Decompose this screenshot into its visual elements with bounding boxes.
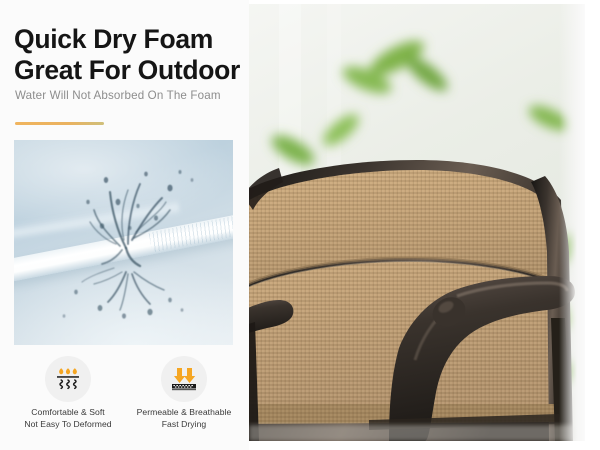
canvas-edge-bottom [249,441,600,450]
page-title: Quick Dry Foam Great For Outdoor [14,24,246,87]
heat-dry-icon [53,364,83,394]
feature-item-breathable: Permeable & Breathable Fast Drying [130,356,238,430]
chair-photo-illustration [249,0,585,441]
feature-label: Permeable & Breathable Fast Drying [137,407,232,430]
page-subtitle: Water Will Not Absorbed On The Foam [15,89,250,103]
photo-edge-fade [559,0,585,441]
breathable-mesh-icon [169,364,199,394]
patio-chair-photo [249,0,585,441]
marketing-banner: Quick Dry Foam Great For Outdoor Water W… [0,0,600,450]
water-splash-photo [14,140,233,345]
canvas-edge-right [585,0,600,450]
canvas-edge-top [249,0,600,4]
accent-underline [15,122,104,125]
feature-badge [45,356,91,402]
left-content-panel: Quick Dry Foam Great For Outdoor Water W… [0,0,249,450]
feature-label: Comfortable & Soft Not Easy To Deformed [24,407,111,430]
feature-list: Comfortable & Soft Not Easy To Deformed [14,356,238,430]
feature-item-comfort: Comfortable & Soft Not Easy To Deformed [14,356,122,430]
water-splash-illustration [14,140,233,345]
feature-badge [161,356,207,402]
